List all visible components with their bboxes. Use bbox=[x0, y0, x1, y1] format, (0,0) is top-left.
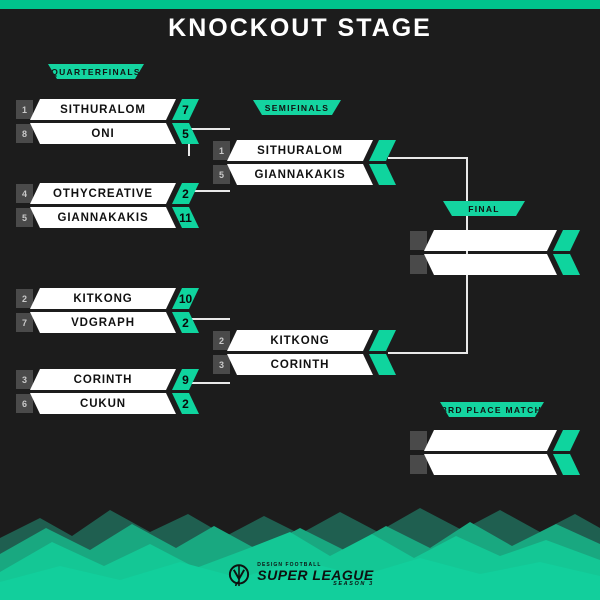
seed-badge: 2 bbox=[213, 331, 230, 350]
match-final[interactable] bbox=[410, 230, 590, 275]
match-row-top[interactable]: 1 SITHURALOM bbox=[213, 140, 413, 161]
team-name: KITKONG bbox=[30, 288, 176, 309]
score-box bbox=[369, 140, 396, 161]
team-name bbox=[424, 254, 557, 275]
seed-badge: 1 bbox=[16, 100, 33, 119]
seed-badge: 3 bbox=[213, 355, 230, 374]
score-box: 5 bbox=[172, 123, 199, 144]
match-qf-4[interactable]: 3 CORINTH 9 6 CUKUN 2 bbox=[16, 369, 216, 414]
seed-badge: 2 bbox=[16, 289, 33, 308]
team-name: GIANNAKAKIS bbox=[227, 164, 373, 185]
bracket-page: KNOCKOUT STAGE DESIGN FOOTBALL SUPER LEA… bbox=[0, 0, 600, 600]
seed-badge bbox=[410, 231, 427, 250]
score-box: 2 bbox=[172, 393, 199, 414]
score-box: 10 bbox=[172, 288, 199, 309]
score-box bbox=[553, 230, 580, 251]
score-box bbox=[553, 254, 580, 275]
seed-badge: 8 bbox=[16, 124, 33, 143]
match-row-bottom[interactable] bbox=[410, 254, 590, 275]
seed-badge bbox=[410, 431, 427, 450]
stage-label-quarterfinals: QUARTERFINALS bbox=[48, 64, 144, 79]
seed-badge: 5 bbox=[213, 165, 230, 184]
score-box bbox=[369, 330, 396, 351]
match-row-top[interactable] bbox=[410, 430, 590, 451]
logo-line-2: SUPER LEAGUE bbox=[257, 568, 373, 582]
page-title: KNOCKOUT STAGE bbox=[0, 14, 600, 43]
team-name: CORINTH bbox=[227, 354, 373, 375]
league-crest-icon bbox=[226, 562, 252, 588]
score-box: 11 bbox=[172, 207, 199, 228]
match-row-top[interactable]: 2 KITKONG bbox=[213, 330, 413, 351]
seed-badge: 3 bbox=[16, 370, 33, 389]
match-sf-2[interactable]: 2 KITKONG 3 CORINTH bbox=[213, 330, 413, 375]
match-row-bottom[interactable]: 8 ONI 5 bbox=[16, 123, 216, 144]
score-box: 2 bbox=[172, 312, 199, 333]
team-name: CORINTH bbox=[30, 369, 176, 390]
score-box bbox=[553, 454, 580, 475]
score-box: 7 bbox=[172, 99, 199, 120]
score-box: 9 bbox=[172, 369, 199, 390]
seed-badge bbox=[410, 455, 427, 474]
seed-badge bbox=[410, 255, 427, 274]
score-box bbox=[369, 354, 396, 375]
match-row-top[interactable]: 3 CORINTH 9 bbox=[16, 369, 216, 390]
team-name: CUKUN bbox=[30, 393, 176, 414]
seed-badge: 7 bbox=[16, 313, 33, 332]
match-row-bottom[interactable]: 7 VDGRAPH 2 bbox=[16, 312, 216, 333]
match-row-bottom[interactable] bbox=[410, 454, 590, 475]
match-qf-3[interactable]: 2 KITKONG 10 7 VDGRAPH 2 bbox=[16, 288, 216, 333]
match-row-bottom[interactable]: 5 GIANNAKAKIS 11 bbox=[16, 207, 216, 228]
seed-badge: 4 bbox=[16, 184, 33, 203]
match-row-bottom[interactable]: 5 GIANNAKAKIS bbox=[213, 164, 413, 185]
seed-badge: 6 bbox=[16, 394, 33, 413]
match-row-top[interactable]: 2 KITKONG 10 bbox=[16, 288, 216, 309]
team-name bbox=[424, 430, 557, 451]
stage-label-semifinals: SEMIFINALS bbox=[253, 100, 341, 115]
logo-line-3: SEASON 3 bbox=[257, 582, 373, 588]
match-row-top[interactable]: 1 SITHURALOM 7 bbox=[16, 99, 216, 120]
league-logo: DESIGN FOOTBALL SUPER LEAGUE SEASON 3 bbox=[0, 562, 600, 588]
top-accent-bar bbox=[0, 0, 600, 9]
match-qf-1[interactable]: 1 SITHURALOM 7 8 ONI 5 bbox=[16, 99, 216, 144]
match-sf-1[interactable]: 1 SITHURALOM 5 GIANNAKAKIS bbox=[213, 140, 413, 185]
team-name: GIANNAKAKIS bbox=[30, 207, 176, 228]
score-box: 2 bbox=[172, 183, 199, 204]
match-row-bottom[interactable]: 3 CORINTH bbox=[213, 354, 413, 375]
match-third-place[interactable] bbox=[410, 430, 590, 475]
team-name: SITHURALOM bbox=[227, 140, 373, 161]
seed-badge: 5 bbox=[16, 208, 33, 227]
score-box bbox=[369, 164, 396, 185]
stage-label-third-place: 3RD PLACE MATCH bbox=[440, 402, 544, 417]
match-row-top[interactable] bbox=[410, 230, 590, 251]
team-name: OTHYCREATIVE bbox=[30, 183, 176, 204]
team-name: VDGRAPH bbox=[30, 312, 176, 333]
team-name: ONI bbox=[30, 123, 176, 144]
match-qf-2[interactable]: 4 OTHYCREATIVE 2 5 GIANNAKAKIS 11 bbox=[16, 183, 216, 228]
match-row-bottom[interactable]: 6 CUKUN 2 bbox=[16, 393, 216, 414]
match-row-top[interactable]: 4 OTHYCREATIVE 2 bbox=[16, 183, 216, 204]
team-name bbox=[424, 230, 557, 251]
score-box bbox=[553, 430, 580, 451]
team-name bbox=[424, 454, 557, 475]
seed-badge: 1 bbox=[213, 141, 230, 160]
team-name: KITKONG bbox=[227, 330, 373, 351]
team-name: SITHURALOM bbox=[30, 99, 176, 120]
stage-label-final: FINAL bbox=[443, 201, 525, 216]
